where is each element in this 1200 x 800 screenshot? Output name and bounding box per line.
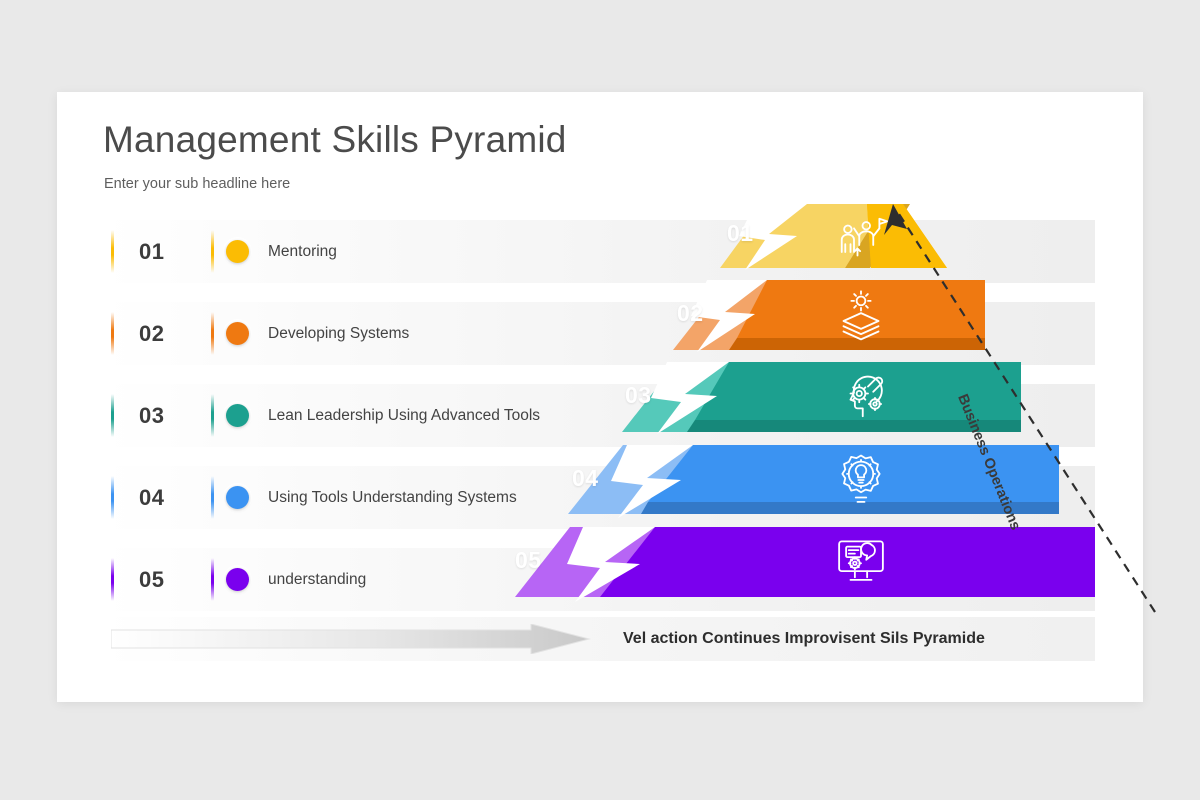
slide-canvas: Management Skills Pyramid Enter your sub… [0,0,1200,800]
bulb-gear-icon [833,452,889,508]
accent-bar-dot [211,312,214,355]
accent-bar-dot [211,230,214,273]
legend-label: Mentoring [268,220,337,283]
legend-label: Developing Systems [268,302,409,365]
accent-bar-dot [211,394,214,437]
legend-number: 04 [139,466,164,529]
accent-bar-number [111,394,114,437]
tier-number-01: 01 [727,220,754,247]
legend-number: 05 [139,548,164,611]
accent-bar-number [111,312,114,355]
legend-number: 03 [139,384,164,447]
accent-bar-number [111,476,114,519]
dot-icon [226,322,249,345]
pyramid-tier-01[interactable] [455,202,1155,622]
leadership-flag-icon [833,210,889,266]
accent-bar-number [111,558,114,601]
legend-number: 02 [139,302,164,365]
footer-bar: Vel action Continues Improvisent Sils Py… [103,617,1095,661]
accent-bar-dot [211,558,214,601]
legend-label: understanding [268,548,366,611]
tier-number-03: 03 [625,382,652,409]
page-subtitle: Enter your sub headline here [104,176,290,192]
tier-number-02: 02 [677,300,704,327]
dot-icon [226,486,249,509]
monitor-gear-icon [833,530,889,586]
page-title: Management Skills Pyramid [103,119,567,161]
dot-icon [226,404,249,427]
tier-number-04: 04 [572,465,599,492]
legend-number: 01 [139,220,164,283]
footer-text: Vel action Continues Improvisent Sils Py… [623,617,985,661]
accent-bar-dot [211,476,214,519]
dot-icon [226,568,249,591]
pyramid-diagram: 01 02 03 04 05 [455,202,1155,622]
layers-gear-icon [833,286,889,342]
dot-icon [226,240,249,263]
right-arrow-icon [111,624,591,654]
head-gears-icon [833,369,889,425]
accent-bar-number [111,230,114,273]
tier-number-05: 05 [515,547,542,574]
slide-card: Management Skills Pyramid Enter your sub… [57,92,1143,702]
